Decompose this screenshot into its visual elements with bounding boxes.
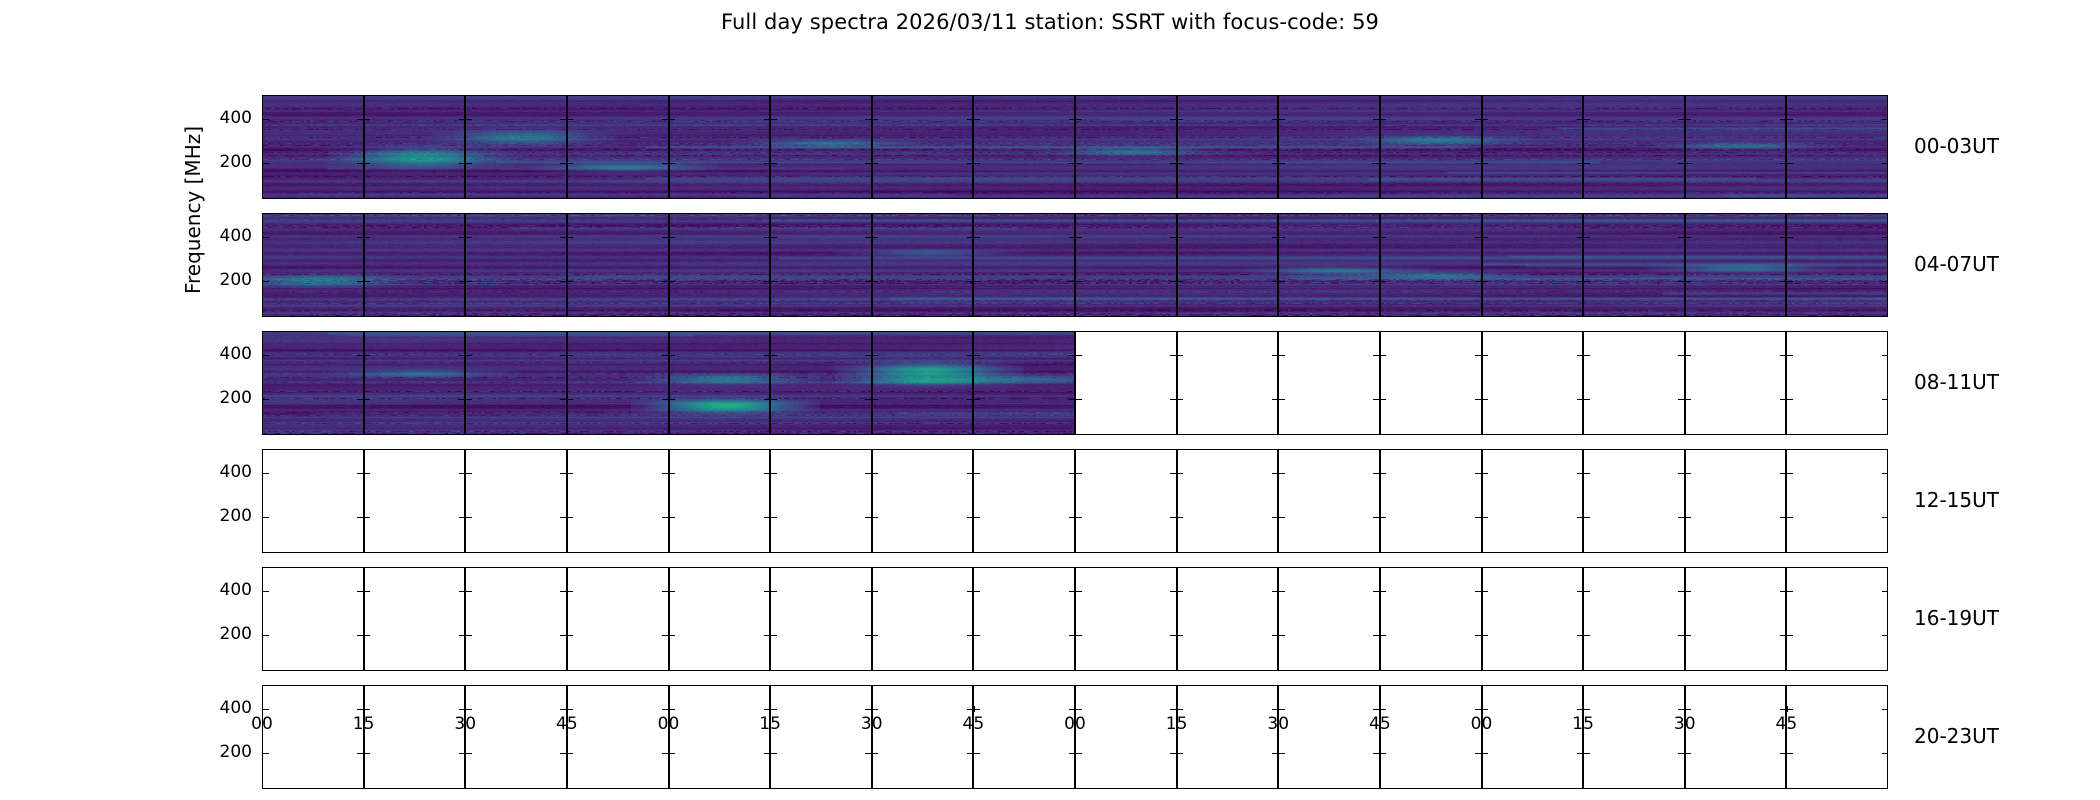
y-tick-mark xyxy=(865,517,871,518)
row-time-label: 12-15UT xyxy=(1914,488,1999,512)
y-tick-mark xyxy=(1076,517,1082,518)
y-tick-mark xyxy=(1177,591,1183,592)
y-tick-mark xyxy=(459,591,465,592)
y-tick-mark xyxy=(1780,709,1786,710)
y-tick-label: 200 xyxy=(196,508,252,525)
spectrogram-panel[interactable] xyxy=(465,449,567,553)
y-tick-mark xyxy=(771,517,777,518)
y-tick-mark xyxy=(662,635,668,636)
y-tick-mark xyxy=(1678,753,1684,754)
y-tick-mark xyxy=(764,591,770,592)
y-tick-mark xyxy=(364,517,370,518)
y-tick-mark xyxy=(1279,473,1285,474)
x-tick-label: 00 xyxy=(1064,714,1086,734)
y-tick-mark xyxy=(560,635,566,636)
y-tick-mark xyxy=(1685,635,1691,636)
y-tick-mark xyxy=(872,709,878,710)
x-tick-mark xyxy=(872,706,873,712)
y-tick-mark xyxy=(1373,753,1379,754)
y-tick-label: 200 xyxy=(196,272,252,289)
spectrogram-panel[interactable] xyxy=(1685,567,1787,671)
y-tick-mark xyxy=(662,753,668,754)
y-tick-mark xyxy=(669,473,675,474)
y-tick-mark xyxy=(974,591,980,592)
y-tick-mark xyxy=(865,753,871,754)
spectrogram-panel[interactable] xyxy=(1177,449,1279,553)
spectrogram-panel[interactable] xyxy=(1583,449,1685,553)
y-tick-mark xyxy=(1584,753,1590,754)
y-tick-mark xyxy=(1787,753,1793,754)
y-tick-label: 200 xyxy=(196,744,252,761)
x-tick-mark xyxy=(1685,706,1686,712)
row-time-label: 20-23UT xyxy=(1914,724,1999,748)
y-tick-mark xyxy=(1069,635,1075,636)
y-tick-mark xyxy=(1076,473,1082,474)
y-tick-mark xyxy=(1780,753,1786,754)
spectrogram-panel[interactable] xyxy=(1482,567,1584,671)
y-tick-mark xyxy=(1475,635,1481,636)
spectrogram-panel[interactable] xyxy=(1075,449,1177,553)
y-tick-mark xyxy=(1279,517,1285,518)
y-tick-label: 200 xyxy=(196,154,252,171)
y-tick-label: 400 xyxy=(196,346,252,363)
y-tick-mark xyxy=(771,635,777,636)
y-tick-mark xyxy=(872,753,878,754)
y-tick-mark xyxy=(357,753,363,754)
y-tick-mark xyxy=(974,517,980,518)
y-tick-mark xyxy=(1475,709,1481,710)
y-tick-mark xyxy=(1577,473,1583,474)
spectrogram-panel[interactable] xyxy=(1177,567,1279,671)
y-tick-mark xyxy=(872,591,878,592)
y-tick-mark xyxy=(1780,591,1786,592)
y-tick-mark xyxy=(662,473,668,474)
y-tick-mark xyxy=(1482,709,1488,710)
y-tick-mark xyxy=(669,591,675,592)
y-tick-mark xyxy=(1787,709,1793,710)
x-tick-mark xyxy=(364,706,365,712)
y-tick-mark xyxy=(263,709,269,710)
y-tick-mark xyxy=(357,709,363,710)
y-tick-mark xyxy=(459,473,465,474)
spectrogram-panel[interactable] xyxy=(364,567,466,671)
y-tick-mark xyxy=(764,709,770,710)
y-tick-mark xyxy=(974,635,980,636)
y-tick-mark xyxy=(1685,473,1691,474)
x-tick-label: 15 xyxy=(1572,714,1594,734)
y-tick-mark xyxy=(1577,591,1583,592)
y-tick-mark xyxy=(1577,709,1583,710)
spectrogram-panel[interactable] xyxy=(872,567,974,671)
panel-grid xyxy=(262,567,1888,671)
y-tick-mark xyxy=(1380,517,1386,518)
y-tick-label: 200 xyxy=(196,390,252,407)
spectrogram-panel[interactable] xyxy=(1075,567,1177,671)
spectrogram-panel[interactable] xyxy=(1583,567,1685,671)
spectrogram-row xyxy=(262,95,1888,199)
spectrogram-panel[interactable] xyxy=(1685,449,1787,553)
y-tick-mark xyxy=(1069,517,1075,518)
y-tick-mark xyxy=(1373,473,1379,474)
x-tick-label: 30 xyxy=(861,714,883,734)
y-tick-mark xyxy=(669,753,675,754)
y-tick-mark xyxy=(662,709,668,710)
spectrogram-panel[interactable] xyxy=(669,449,771,553)
y-tick-mark xyxy=(967,709,973,710)
spectrogram-panel[interactable] xyxy=(364,449,466,553)
y-tick-mark xyxy=(974,753,980,754)
y-tick-mark xyxy=(1482,635,1488,636)
y-tick-mark xyxy=(1678,709,1684,710)
spectrogram-panel[interactable] xyxy=(770,567,872,671)
y-tick-mark xyxy=(1170,753,1176,754)
y-tick-mark xyxy=(567,517,573,518)
y-tick-mark xyxy=(1373,635,1379,636)
spectrogram-panel[interactable] xyxy=(465,567,567,671)
y-tick-label: 400 xyxy=(196,110,252,127)
x-axis: 00153045001530450015304500153045 xyxy=(262,712,1888,752)
row-time-label: 04-07UT xyxy=(1914,252,1999,276)
page-title: Full day spectra 2026/03/11 station: SSR… xyxy=(0,10,2100,34)
spectrogram-panel[interactable] xyxy=(1786,567,1888,671)
y-tick-mark xyxy=(771,709,777,710)
x-tick-label: 15 xyxy=(353,714,375,734)
y-tick-mark xyxy=(1380,473,1386,474)
spectrogram-panel[interactable] xyxy=(567,449,669,553)
row-time-label: 08-11UT xyxy=(1914,370,1999,394)
y-tick-mark xyxy=(1170,709,1176,710)
x-tick-label: 00 xyxy=(658,714,680,734)
x-tick-mark xyxy=(1177,706,1178,712)
y-tick-mark xyxy=(1373,709,1379,710)
y-tick-mark xyxy=(771,473,777,474)
y-tick-mark xyxy=(1177,709,1183,710)
y-tick-mark xyxy=(974,709,980,710)
y-tick-mark xyxy=(1787,591,1793,592)
x-tick-mark xyxy=(1278,706,1279,712)
x-tick-label: 00 xyxy=(1471,714,1493,734)
y-tick-mark xyxy=(1577,517,1583,518)
y-tick-mark xyxy=(764,753,770,754)
y-tick-mark xyxy=(357,591,363,592)
y-tick-mark xyxy=(1272,473,1278,474)
x-tick-mark xyxy=(465,706,466,712)
y-tick-mark xyxy=(1685,709,1691,710)
x-tick-label: 15 xyxy=(1166,714,1188,734)
y-tick-mark xyxy=(872,517,878,518)
y-tick-mark xyxy=(1170,473,1176,474)
panel-grid xyxy=(262,449,1888,553)
x-tick-label: 45 xyxy=(556,714,578,734)
spectrogram-panel[interactable] xyxy=(1482,449,1584,553)
y-tick-mark xyxy=(865,473,871,474)
spectrogram-panel[interactable] xyxy=(1380,567,1482,671)
y-tick-mark xyxy=(1272,709,1278,710)
y-tick-mark xyxy=(1482,753,1488,754)
spectrogram-panel[interactable] xyxy=(1278,567,1380,671)
y-tick-mark xyxy=(1882,473,1888,474)
y-tick-mark xyxy=(1069,753,1075,754)
y-tick-mark xyxy=(872,635,878,636)
y-tick-mark xyxy=(1272,517,1278,518)
y-tick-mark xyxy=(357,473,363,474)
spectrogram-panel[interactable] xyxy=(973,449,1075,553)
y-tick-mark xyxy=(1380,591,1386,592)
spectrogram-panel[interactable] xyxy=(973,567,1075,671)
y-tick-mark xyxy=(1279,753,1285,754)
y-tick-mark xyxy=(567,753,573,754)
y-tick-mark xyxy=(1475,591,1481,592)
y-tick-mark xyxy=(567,591,573,592)
spectrogram-panel[interactable] xyxy=(1786,449,1888,553)
y-tick-mark xyxy=(364,635,370,636)
y-tick-mark xyxy=(1685,517,1691,518)
y-tick-mark xyxy=(560,753,566,754)
y-tick-label: 400 xyxy=(196,228,252,245)
x-tick-mark xyxy=(567,706,568,712)
y-tick-label: 400 xyxy=(196,582,252,599)
y-tick-mark xyxy=(560,709,566,710)
x-tick-mark xyxy=(1075,706,1076,712)
spectrogram-panel[interactable] xyxy=(262,449,364,553)
x-tick-mark xyxy=(669,706,670,712)
y-tick-mark xyxy=(466,591,472,592)
y-tick-mark xyxy=(1577,635,1583,636)
y-tick-mark xyxy=(263,473,269,474)
y-tick-mark xyxy=(967,473,973,474)
y-tick-mark xyxy=(1279,591,1285,592)
x-tick-label: 30 xyxy=(454,714,476,734)
y-tick-mark xyxy=(466,473,472,474)
y-tick-mark xyxy=(560,591,566,592)
y-tick-mark xyxy=(669,635,675,636)
row-time-label: 00-03UT xyxy=(1914,134,1999,158)
y-tick-mark xyxy=(1678,517,1684,518)
y-tick-mark xyxy=(1787,635,1793,636)
y-tick-mark xyxy=(1882,635,1888,636)
y-tick-mark xyxy=(1475,473,1481,474)
y-tick-mark xyxy=(567,709,573,710)
y-tick-mark xyxy=(1279,709,1285,710)
y-tick-mark xyxy=(1787,473,1793,474)
y-tick-mark xyxy=(1780,517,1786,518)
y-tick-mark xyxy=(865,635,871,636)
y-tick-mark xyxy=(1584,591,1590,592)
y-tick-mark xyxy=(669,517,675,518)
y-tick-mark xyxy=(1069,591,1075,592)
y-tick-mark xyxy=(263,591,269,592)
y-tick-mark xyxy=(1373,591,1379,592)
spectrogram-panel[interactable] xyxy=(567,567,669,671)
y-tick-mark xyxy=(1380,635,1386,636)
y-tick-mark xyxy=(865,591,871,592)
y-tick-mark xyxy=(1882,753,1888,754)
spectrogram-panel[interactable] xyxy=(669,567,771,671)
y-tick-mark xyxy=(364,753,370,754)
spectrogram-image xyxy=(262,95,1888,199)
y-tick-mark xyxy=(1475,517,1481,518)
y-tick-mark xyxy=(1177,517,1183,518)
y-tick-mark xyxy=(1577,753,1583,754)
y-tick-mark xyxy=(1584,635,1590,636)
spectrogram-panel[interactable] xyxy=(262,567,364,671)
spectrogram-image xyxy=(262,331,1888,435)
y-tick-mark xyxy=(1482,591,1488,592)
x-tick-label: 45 xyxy=(963,714,985,734)
y-tick-mark xyxy=(357,517,363,518)
y-tick-mark xyxy=(1685,591,1691,592)
y-tick-mark xyxy=(1170,517,1176,518)
y-tick-mark xyxy=(1170,591,1176,592)
y-tick-mark xyxy=(459,517,465,518)
y-tick-mark xyxy=(974,473,980,474)
y-tick-mark xyxy=(1882,709,1888,710)
y-tick-mark xyxy=(466,753,472,754)
spectrogram-row xyxy=(262,449,1888,553)
x-tick-mark xyxy=(770,706,771,712)
y-tick-mark xyxy=(1076,591,1082,592)
y-tick-mark xyxy=(263,517,269,518)
x-tick-mark xyxy=(1380,706,1381,712)
x-tick-mark xyxy=(1786,706,1787,712)
y-tick-mark xyxy=(1584,709,1590,710)
y-tick-mark xyxy=(364,709,370,710)
y-tick-mark xyxy=(865,709,871,710)
spectrogram-panel[interactable] xyxy=(872,449,974,553)
y-tick-mark xyxy=(872,473,878,474)
spectrogram-row xyxy=(262,331,1888,435)
y-tick-mark xyxy=(1780,473,1786,474)
y-tick-mark xyxy=(669,709,675,710)
y-tick-mark xyxy=(1069,473,1075,474)
y-tick-label: 400 xyxy=(196,464,252,481)
y-tick-mark xyxy=(967,753,973,754)
x-tick-mark xyxy=(973,706,974,712)
y-tick-mark xyxy=(560,473,566,474)
y-tick-mark xyxy=(1069,709,1075,710)
y-tick-mark xyxy=(967,517,973,518)
x-tick-label: 15 xyxy=(759,714,781,734)
y-tick-mark xyxy=(1584,517,1590,518)
spectrogram-panel[interactable] xyxy=(1380,449,1482,553)
spectrogram-panel[interactable] xyxy=(1278,449,1380,553)
y-tick-mark xyxy=(1373,517,1379,518)
y-tick-mark xyxy=(466,709,472,710)
y-tick-label: 200 xyxy=(196,626,252,643)
y-tick-mark xyxy=(771,753,777,754)
y-tick-mark xyxy=(1170,635,1176,636)
y-tick-mark xyxy=(1380,709,1386,710)
y-tick-mark xyxy=(1475,753,1481,754)
spectrogram-row xyxy=(262,567,1888,671)
y-tick-mark xyxy=(1678,635,1684,636)
y-tick-mark xyxy=(1177,473,1183,474)
x-tick-label: 30 xyxy=(1267,714,1289,734)
y-tick-mark xyxy=(1584,473,1590,474)
spectrogram-panel[interactable] xyxy=(770,449,872,553)
y-tick-mark xyxy=(1482,517,1488,518)
x-tick-label: 30 xyxy=(1674,714,1696,734)
y-tick-mark xyxy=(1177,635,1183,636)
y-tick-mark xyxy=(263,635,269,636)
x-tick-label: 45 xyxy=(1369,714,1391,734)
y-tick-mark xyxy=(764,473,770,474)
y-tick-mark xyxy=(567,635,573,636)
y-tick-mark xyxy=(1272,591,1278,592)
y-tick-mark xyxy=(1787,517,1793,518)
y-tick-mark xyxy=(560,517,566,518)
row-time-label: 16-19UT xyxy=(1914,606,1999,630)
y-tick-mark xyxy=(771,591,777,592)
y-tick-label: 400 xyxy=(196,700,252,717)
x-tick-mark xyxy=(262,706,263,712)
y-tick-mark xyxy=(662,517,668,518)
x-tick-mark xyxy=(1583,706,1584,712)
y-tick-mark xyxy=(357,635,363,636)
y-tick-mark xyxy=(1780,635,1786,636)
x-tick-mark xyxy=(1482,706,1483,712)
x-tick-label: 45 xyxy=(1776,714,1798,734)
y-tick-mark xyxy=(1685,753,1691,754)
spectrogram-row xyxy=(262,213,1888,317)
y-tick-mark xyxy=(967,635,973,636)
y-tick-mark xyxy=(1177,753,1183,754)
y-tick-mark xyxy=(1076,635,1082,636)
y-tick-mark xyxy=(1272,753,1278,754)
spectrogram-figure: Full day spectra 2026/03/11 station: SSR… xyxy=(0,0,2100,800)
y-tick-mark xyxy=(1279,635,1285,636)
y-tick-mark xyxy=(1678,473,1684,474)
y-tick-mark xyxy=(1076,753,1082,754)
y-tick-mark xyxy=(764,517,770,518)
y-tick-mark xyxy=(662,591,668,592)
y-tick-mark xyxy=(459,709,465,710)
y-tick-mark xyxy=(764,635,770,636)
y-tick-mark xyxy=(466,635,472,636)
y-tick-mark xyxy=(967,591,973,592)
y-tick-mark xyxy=(364,591,370,592)
y-tick-mark xyxy=(1380,753,1386,754)
spectrogram-image xyxy=(262,213,1888,317)
y-tick-mark xyxy=(1882,517,1888,518)
y-tick-mark xyxy=(1678,591,1684,592)
y-tick-mark xyxy=(263,753,269,754)
y-tick-mark xyxy=(364,473,370,474)
y-tick-mark xyxy=(567,473,573,474)
y-tick-mark xyxy=(459,753,465,754)
x-tick-label: 00 xyxy=(251,714,273,734)
y-tick-mark xyxy=(1076,709,1082,710)
y-tick-mark xyxy=(1482,473,1488,474)
y-tick-mark xyxy=(459,635,465,636)
y-tick-mark xyxy=(1272,635,1278,636)
y-tick-mark xyxy=(1882,591,1888,592)
y-tick-mark xyxy=(466,517,472,518)
